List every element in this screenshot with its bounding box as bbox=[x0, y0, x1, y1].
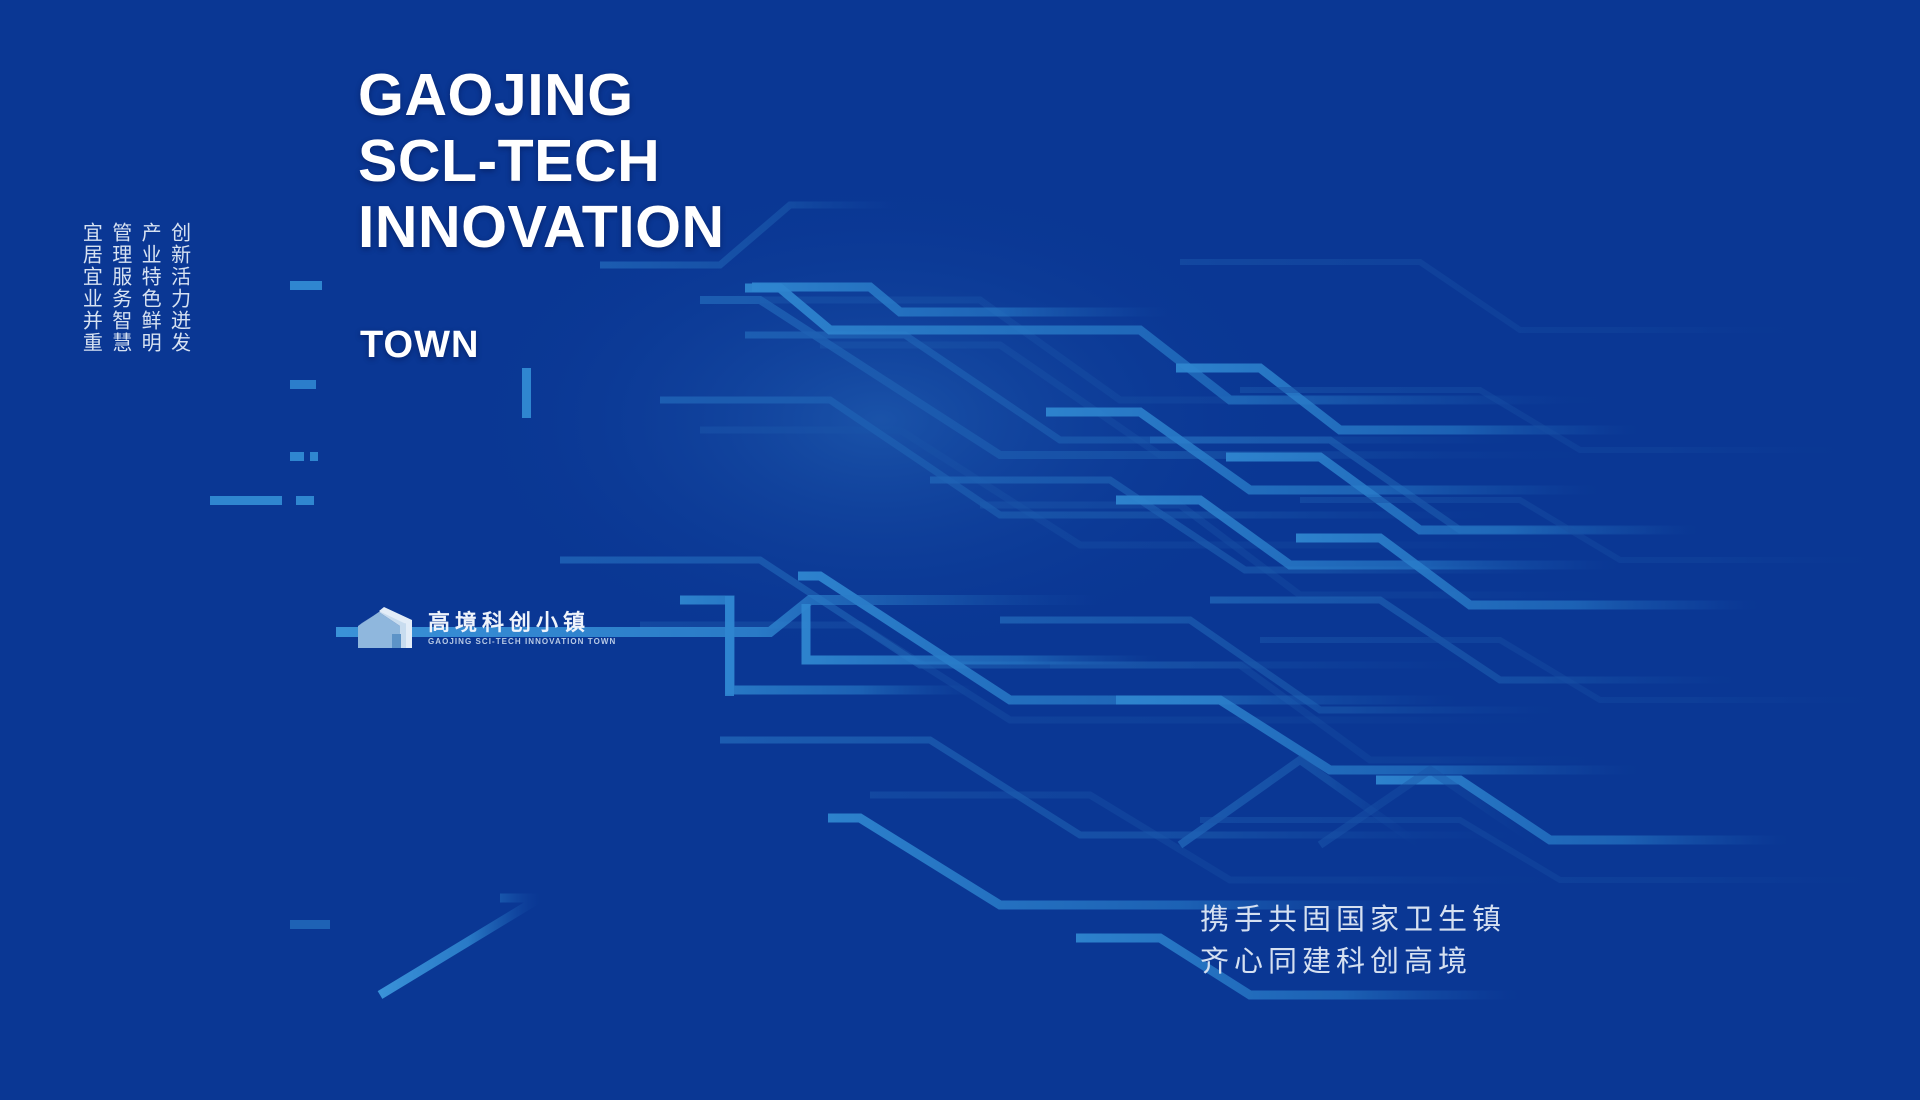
house-building-icon bbox=[356, 606, 418, 652]
logo-english-name: GAOJING SCI-TECH INNOVATION TOWN bbox=[428, 638, 616, 646]
circuit-pattern-graphic bbox=[0, 0, 1920, 1100]
vertical-slogan-column-3: 管理服务智慧 bbox=[107, 222, 133, 354]
vertical-slogan: 创新活力迸发 产业特色鲜明 管理服务智慧 宜居宜业并重 bbox=[78, 222, 193, 354]
title-line-town: TOWN bbox=[360, 324, 479, 366]
bottom-slogan-line-2: 齐心同建科创高境 bbox=[1200, 940, 1506, 982]
logo-chinese-name: 高境科创小镇 bbox=[428, 613, 616, 635]
logo-lockup: 高境科创小镇 GAOJING SCI-TECH INNOVATION TOWN bbox=[356, 606, 616, 652]
poster-canvas: 创新活力迸发 产业特色鲜明 管理服务智慧 宜居宜业并重 GAOJING SCL-… bbox=[0, 0, 1920, 1100]
logo-text-block: 高境科创小镇 GAOJING SCI-TECH INNOVATION TOWN bbox=[428, 613, 616, 646]
page-title: GAOJING SCL-TECH INNOVATION bbox=[358, 62, 725, 260]
title-line-3: INNOVATION bbox=[358, 194, 725, 260]
bottom-slogan: 携手共固国家卫生镇 齐心同建科创高境 bbox=[1200, 898, 1506, 982]
vertical-slogan-column-4: 宜居宜业并重 bbox=[78, 222, 104, 354]
title-line-1: GAOJING bbox=[358, 62, 725, 128]
title-line-2: SCL-TECH bbox=[358, 128, 725, 194]
vertical-slogan-column-1: 创新活力迸发 bbox=[166, 222, 192, 354]
bottom-slogan-line-1: 携手共固国家卫生镇 bbox=[1200, 898, 1506, 940]
vertical-slogan-column-2: 产业特色鲜明 bbox=[137, 222, 163, 354]
